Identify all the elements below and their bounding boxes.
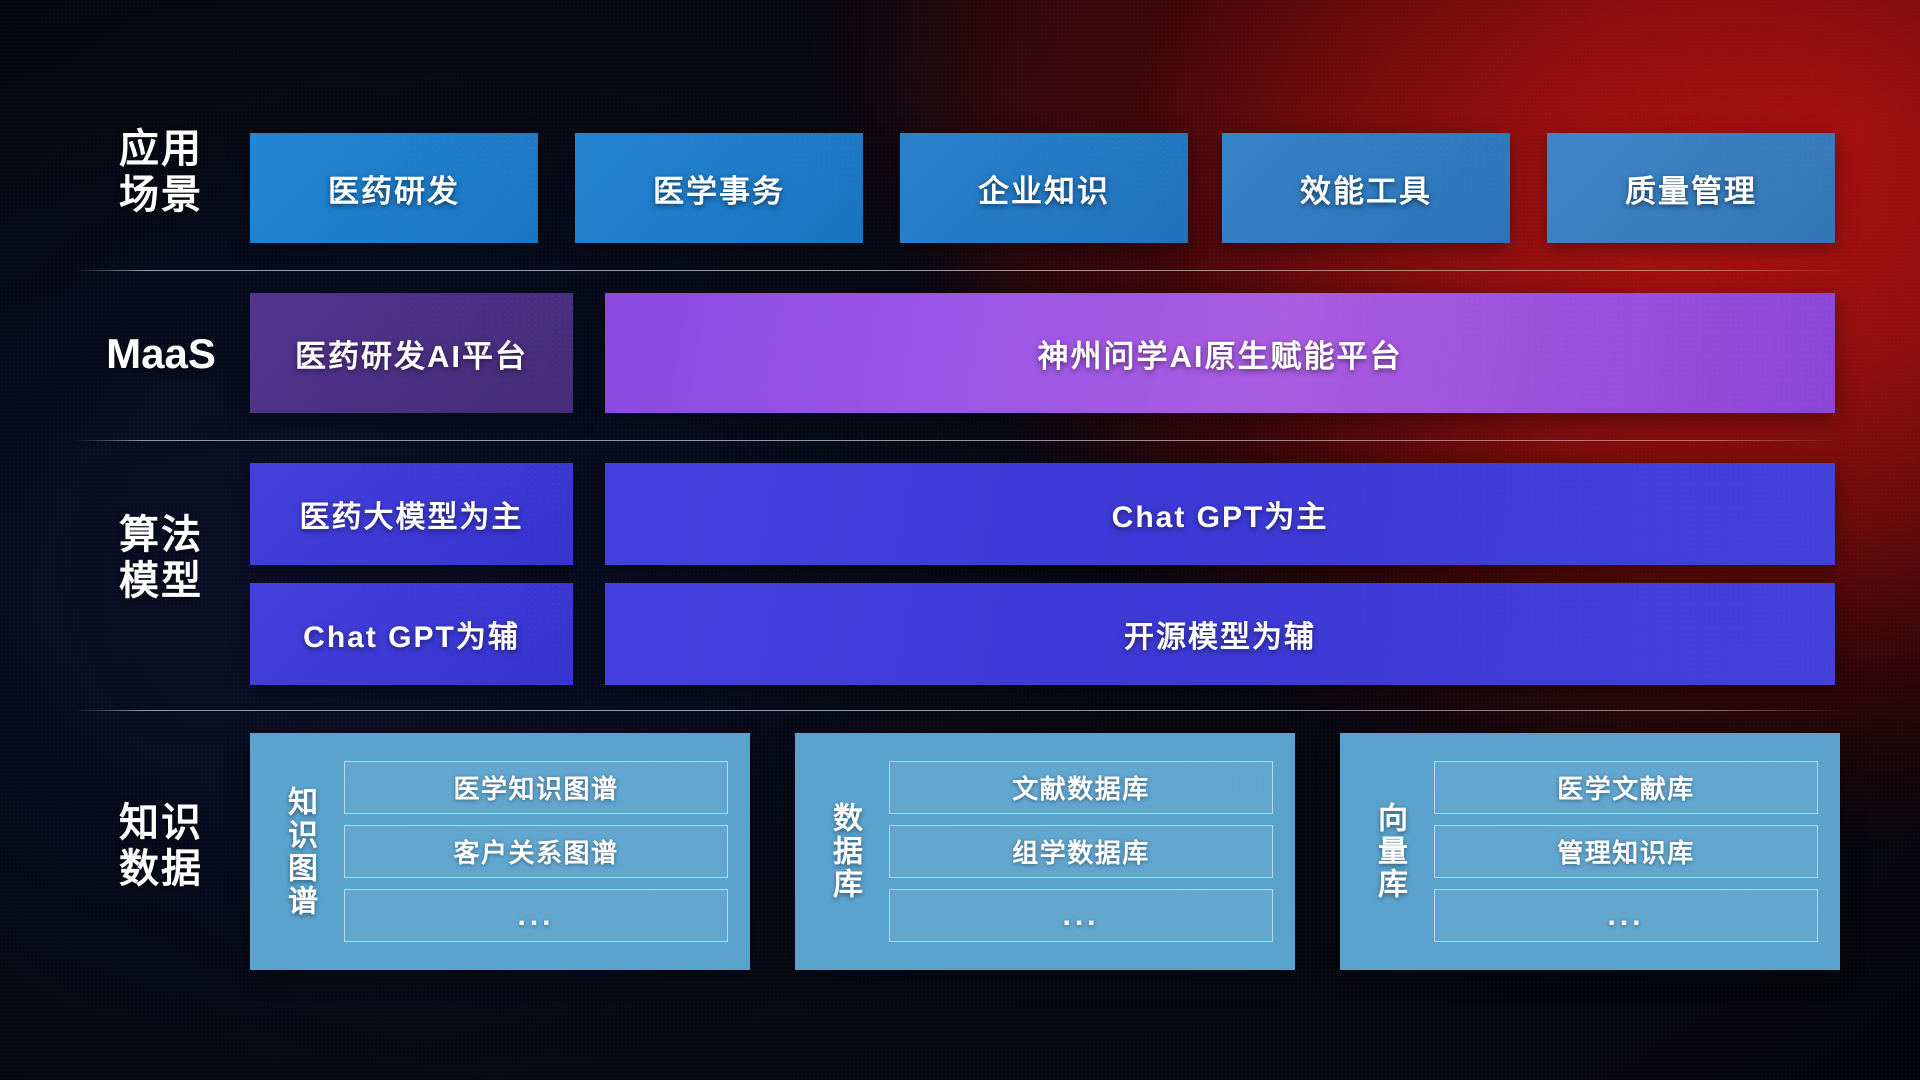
model-box-chatgpt-secondary-label: Chat GPT为辅 <box>303 612 520 656</box>
knowledge-item[interactable]: 组学数据库 <box>889 825 1273 878</box>
knowledge-panel-graph[interactable]: 知识图谱 医学知识图谱 客户关系图谱 ... <box>250 733 750 970</box>
row-label-line-1: 知识 <box>75 800 247 846</box>
model-box-chatgpt-primary[interactable]: Chat GPT为主 <box>605 463 1835 565</box>
knowledge-item[interactable]: 医学文献库 <box>1434 761 1818 814</box>
scenario-box-4-label: 效能工具 <box>1300 166 1432 211</box>
scenario-box-2-label: 医学事务 <box>653 166 785 211</box>
scenario-box-5[interactable]: 质量管理 <box>1547 133 1835 243</box>
model-box-chatgpt-primary-label: Chat GPT为主 <box>1112 492 1329 536</box>
knowledge-item[interactable]: 客户关系图谱 <box>344 825 728 878</box>
row-separator-1 <box>75 270 1845 271</box>
knowledge-panel-graph-items: 医学知识图谱 客户关系图谱 ... <box>330 761 734 942</box>
scenario-box-3-label: 企业知识 <box>978 166 1110 211</box>
row-label-line-1: 算法 <box>75 512 247 558</box>
row-label-application-scenarios: 应用 场景 <box>75 126 247 219</box>
scenario-box-1[interactable]: 医药研发 <box>250 133 538 243</box>
model-box-chatgpt-secondary[interactable]: Chat GPT为辅 <box>250 583 573 685</box>
knowledge-panel-database-items: 文献数据库 组学数据库 ... <box>875 761 1279 942</box>
knowledge-item-more[interactable]: ... <box>889 889 1273 942</box>
row-label-maas-text: MaaS <box>75 330 247 379</box>
row-label-line-1: 应用 <box>75 126 247 172</box>
model-box-pharma-primary[interactable]: 医药大模型为主 <box>250 463 573 565</box>
knowledge-panel-vector-items: 医学文献库 管理知识库 ... <box>1420 761 1824 942</box>
knowledge-panel-database[interactable]: 数据库 文献数据库 组学数据库 ... <box>795 733 1295 970</box>
maas-box-platform-pharma[interactable]: 医药研发AI平台 <box>250 293 573 413</box>
architecture-diagram: 应用 场景 医药研发 医学事务 企业知识 效能工具 质量管理 MaaS 医药研发… <box>0 0 1920 1080</box>
knowledge-panel-graph-title: 知识图谱 <box>268 786 330 918</box>
row-separator-2 <box>75 440 1845 441</box>
scenario-box-1-label: 医药研发 <box>328 166 460 211</box>
row-label-knowledge-data: 知识 数据 <box>75 800 247 893</box>
row-label-algorithm-models: 算法 模型 <box>75 512 247 605</box>
model-box-opensource-secondary-label: 开源模型为辅 <box>1124 612 1316 656</box>
row-label-line-2: 场景 <box>75 172 247 218</box>
maas-box-platform-shenzhou-label: 神州问学AI原生赋能平台 <box>1038 331 1403 376</box>
row-label-maas: MaaS <box>75 330 247 379</box>
model-box-pharma-primary-label: 医药大模型为主 <box>300 492 524 536</box>
row-separator-3 <box>75 710 1845 711</box>
knowledge-panel-vector[interactable]: 向量库 医学文献库 管理知识库 ... <box>1340 733 1840 970</box>
knowledge-panel-vector-title: 向量库 <box>1358 802 1420 901</box>
knowledge-item-more[interactable]: ... <box>344 889 728 942</box>
knowledge-item[interactable]: 文献数据库 <box>889 761 1273 814</box>
maas-box-platform-shenzhou[interactable]: 神州问学AI原生赋能平台 <box>605 293 1835 413</box>
scenario-box-4[interactable]: 效能工具 <box>1222 133 1510 243</box>
knowledge-panel-database-title: 数据库 <box>813 802 875 901</box>
scenario-box-5-label: 质量管理 <box>1625 166 1757 211</box>
row-label-line-2: 模型 <box>75 558 247 604</box>
scenario-box-3[interactable]: 企业知识 <box>900 133 1188 243</box>
model-box-opensource-secondary[interactable]: 开源模型为辅 <box>605 583 1835 685</box>
knowledge-item-more[interactable]: ... <box>1434 889 1818 942</box>
row-label-line-2: 数据 <box>75 846 247 892</box>
knowledge-item[interactable]: 管理知识库 <box>1434 825 1818 878</box>
knowledge-item[interactable]: 医学知识图谱 <box>344 761 728 814</box>
scenario-box-2[interactable]: 医学事务 <box>575 133 863 243</box>
maas-box-platform-pharma-label: 医药研发AI平台 <box>295 331 528 376</box>
